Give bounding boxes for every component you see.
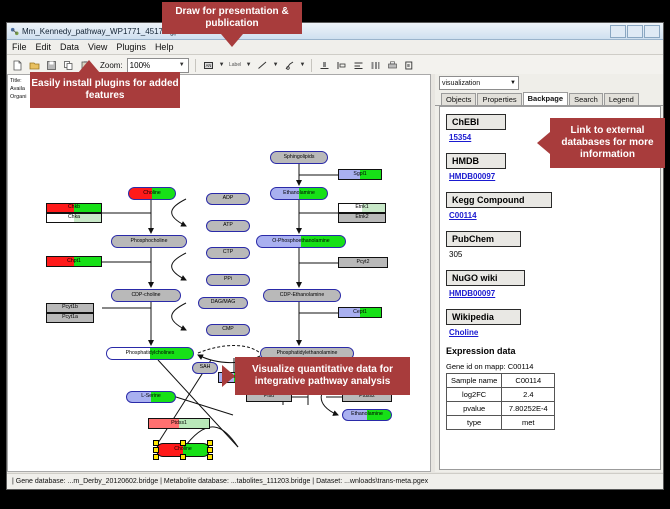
table-row: log2FC2.4	[447, 388, 555, 402]
node-label: O-Phosphoethanolamine	[272, 239, 329, 244]
node-label: Chpt1	[67, 259, 81, 264]
gene-node-ptdss1[interactable]: Ptdss1	[148, 418, 210, 429]
db-value-pubchem: 305	[449, 250, 654, 259]
node-label: Pcyt1b	[62, 305, 78, 310]
tab-search[interactable]: Search	[569, 93, 603, 105]
align-bottom-icon[interactable]	[318, 59, 331, 72]
pathway-canvas[interactable]: Title: Availa Organi	[7, 74, 431, 472]
node-label: Pcyt2	[357, 260, 370, 265]
chevron-down-icon: ▼	[179, 62, 185, 68]
toolbar-separator	[311, 59, 312, 72]
node-label: Etnk1	[355, 205, 368, 210]
table-cell-value: met	[502, 416, 555, 430]
db-value-wikipedia[interactable]: Choline	[449, 328, 654, 337]
visualization-combo-value: visualization	[442, 80, 480, 87]
callout-link: Link to external databases for more info…	[550, 118, 665, 168]
db-value-nugo-wiki[interactable]: HMDB00097	[449, 289, 654, 298]
node-label: CDP-choline	[131, 293, 160, 298]
visualization-row: visualization ▼	[435, 74, 663, 92]
new-file-icon[interactable]	[11, 59, 24, 72]
table-cell-key: Sample name	[447, 374, 502, 388]
metabolite-node-ethanolamine2[interactable]: Ethanolamine	[342, 409, 392, 421]
table-cell-value: 7.80252E-4	[502, 402, 555, 416]
tab-properties[interactable]: Properties	[477, 93, 521, 105]
visualization-combo[interactable]: visualization ▼	[439, 76, 519, 90]
node-label: Chka	[68, 215, 80, 220]
align-left-icon[interactable]	[335, 59, 348, 72]
node-label: Phosphatidylethanolamine	[277, 351, 338, 356]
menu-item-help[interactable]: Help	[155, 42, 174, 52]
callout-draw-arrow	[221, 34, 243, 47]
chevron-down-icon[interactable]: ▼	[300, 62, 306, 68]
db-header-chebi: ChEBI	[446, 114, 506, 130]
gene-node-sgpl1[interactable]: Sgpl1	[338, 169, 382, 180]
chevron-down-icon: ▼	[510, 80, 516, 86]
metabolite-node-dagmag[interactable]: DAG/MAG	[198, 297, 248, 309]
table-cell-key: log2FC	[447, 388, 502, 402]
gene-node-etnk2[interactable]: Etnk2	[338, 213, 386, 223]
tab-backpage[interactable]: Backpage	[523, 92, 568, 105]
datanode-icon[interactable]: AN	[202, 59, 215, 72]
gene-node-pcyt2[interactable]: Pcyt2	[338, 257, 388, 268]
selection-handle-4[interactable]	[207, 447, 213, 453]
zoom-value: 100%	[130, 61, 150, 70]
node-label: PPi	[224, 277, 232, 282]
menu-bar: File Edit Data View Plugins Help	[7, 40, 663, 55]
metabolite-node-atp[interactable]: ATP	[206, 220, 250, 232]
db-header-wikipedia: Wikipedia	[446, 309, 521, 325]
db-value-hmdb[interactable]: HMDB00097	[449, 172, 654, 181]
node-label: ADP	[223, 196, 234, 201]
menu-item-file[interactable]: File	[12, 42, 27, 52]
zoom-combo[interactable]: 100% ▼	[127, 58, 189, 73]
selection-handle-0[interactable]	[153, 440, 159, 446]
menu-item-edit[interactable]: Edit	[36, 42, 52, 52]
node-label: Sphingolipids	[284, 155, 315, 160]
callout-plugins-arrow	[78, 60, 100, 73]
selection-handle-6[interactable]	[180, 454, 186, 460]
node-label: Sgpl1	[353, 172, 366, 177]
chevron-down-icon[interactable]: ▼	[219, 62, 225, 68]
node-label: Cept1	[353, 310, 367, 315]
screenshot-root: Mm_Kennedy_pathway_WP1771_45176.gpml Fil…	[0, 0, 670, 509]
label-icon[interactable]: Label	[229, 59, 242, 72]
node-label: Ethanolamine	[283, 191, 315, 196]
metabolite-node-sah[interactable]: SAH	[192, 362, 218, 374]
svg-text:AN: AN	[205, 63, 211, 68]
callout-visualize-arrow-left	[222, 365, 235, 387]
metabolite-node-phosphocholine[interactable]: Phosphocholine	[111, 235, 187, 248]
status-text: | Gene database: ...m_Derby_20120602.bri…	[7, 478, 428, 485]
selection-handle-7[interactable]	[207, 454, 213, 460]
menu-item-view[interactable]: View	[88, 42, 107, 52]
node-label: Ethanolamine	[351, 412, 383, 417]
window-controls[interactable]	[610, 25, 660, 38]
node-label: Ptdss1	[171, 421, 187, 426]
gene-node-chka[interactable]: Chka	[46, 213, 102, 223]
node-label: DAG/MAG	[211, 300, 236, 305]
table-row: pvalue7.80252E-4	[447, 402, 555, 416]
metabolite-node-cdp-ethanolamine[interactable]: CDP-Ethanolamine	[263, 289, 341, 302]
metabolite-node-ctp[interactable]: CTP	[206, 247, 250, 259]
metabolite-node-ppi[interactable]: PPi	[206, 274, 250, 286]
node-label: L-Serine	[141, 394, 161, 399]
table-row: Sample nameC00114	[447, 374, 555, 388]
gene-node-pcyt1b[interactable]: Pcyt1b	[46, 303, 94, 313]
status-bar: | Gene database: ...m_Derby_20120602.bri…	[7, 473, 663, 489]
table-cell-value: C00114	[502, 374, 555, 388]
callout-plugins: Easily install plugins for added feature…	[30, 72, 180, 108]
stack-icon[interactable]	[352, 59, 365, 72]
metabolite-node-ethanolamine1[interactable]: Ethanolamine	[270, 187, 328, 200]
node-label: Choline	[143, 191, 161, 196]
metabolite-node-phosphatidylcholines[interactable]: Phosphatidylcholines	[106, 347, 194, 360]
callout-link-arrow	[537, 132, 550, 154]
pathvisio-icon	[10, 27, 19, 36]
node-label: Choline	[174, 447, 192, 452]
table-cell-key: pvalue	[447, 402, 502, 416]
expression-table: Sample nameC00114log2FC2.4pvalue7.80252E…	[446, 373, 555, 430]
metabolite-node-adp[interactable]: ADP	[206, 193, 250, 205]
copy-icon[interactable]	[62, 59, 75, 72]
gene-node-chkb[interactable]: Chkb	[46, 203, 102, 213]
selection-handle-3[interactable]	[153, 447, 159, 453]
metabolite-node-sphingolipids[interactable]: Sphingolipids	[270, 151, 328, 164]
selection-handle-5[interactable]	[153, 454, 159, 460]
table-cell-value: 2.4	[502, 388, 555, 402]
gene-node-chpt1[interactable]: Chpt1	[46, 256, 102, 267]
open-folder-icon[interactable]	[28, 59, 41, 72]
node-label: Etnk2	[355, 215, 368, 220]
minimize-button[interactable]	[610, 25, 626, 38]
save-icon[interactable]	[45, 59, 58, 72]
callout-visualize: Visualize quantitative data for integrat…	[235, 357, 410, 395]
toolbar-separator	[195, 59, 196, 72]
gene-node-etnk1[interactable]: Etnk1	[338, 203, 386, 213]
node-label: SAH	[200, 365, 211, 370]
print-icon[interactable]	[386, 59, 399, 72]
node-label: CTP	[223, 250, 233, 255]
table-cell-key: type	[447, 416, 502, 430]
node-label: ATP	[223, 223, 233, 228]
maximize-button[interactable]	[627, 25, 643, 38]
gene-node-pcyt1a[interactable]: Pcyt1a	[46, 313, 94, 323]
expression-data-title: Expression data	[446, 346, 654, 356]
tab-legend[interactable]: Legend	[604, 93, 639, 105]
window-titlebar: Mm_Kennedy_pathway_WP1771_45176.gpml	[7, 23, 663, 40]
zoom-label: Zoom:	[100, 61, 123, 70]
close-button[interactable]	[644, 25, 660, 38]
db-header-nugo-wiki: NuGO wiki	[446, 270, 525, 286]
menu-item-data[interactable]: Data	[60, 42, 79, 52]
side-panel-tabs[interactable]: ObjectsPropertiesBackpageSearchLegend	[435, 92, 663, 106]
node-label: CMP	[222, 327, 234, 332]
node-label: Chkb	[68, 205, 80, 210]
distribute-icon[interactable]	[369, 59, 382, 72]
tab-objects[interactable]: Objects	[441, 93, 476, 105]
menu-item-plugins[interactable]: Plugins	[116, 42, 146, 52]
node-label: Phosphocholine	[131, 239, 168, 244]
db-header-kegg-compound: Kegg Compound	[446, 192, 552, 208]
chevron-down-icon[interactable]: ▼	[273, 62, 279, 68]
table-row: typemet	[447, 416, 555, 430]
line-icon[interactable]	[256, 59, 269, 72]
gene-id-line: Gene id on mapp: C00114	[446, 362, 654, 371]
callout-draw: Draw for presentation & publication	[162, 2, 302, 34]
db-value-kegg-compound[interactable]: C00114	[449, 211, 654, 220]
db-header-pubchem: PubChem	[446, 231, 521, 247]
metabolite-node-cmp[interactable]: CMP	[206, 324, 250, 336]
chevron-down-icon[interactable]: ▼	[246, 62, 252, 68]
order-icon[interactable]	[403, 59, 416, 72]
node-label: CDP-Ethanolamine	[280, 293, 324, 298]
metabolite-node-l-serine-left[interactable]: L-Serine	[126, 391, 176, 403]
node-label: Phosphatidylcholines	[126, 351, 175, 356]
selection-handle-2[interactable]	[207, 440, 213, 446]
db-header-hmdb: HMDB	[446, 153, 506, 169]
metabolite-node-choline-top[interactable]: Choline	[128, 187, 176, 200]
metabolite-node-cdp-choline[interactable]: CDP-choline	[111, 289, 181, 302]
gene-node-cept1[interactable]: Cept1	[338, 307, 382, 318]
node-label: Pcyt1a	[62, 315, 78, 320]
interaction-icon[interactable]	[283, 59, 296, 72]
selection-handle-1[interactable]	[180, 440, 186, 446]
metabolite-node-o-phosphoethanolamine[interactable]: O-Phosphoethanolamine	[256, 235, 346, 248]
